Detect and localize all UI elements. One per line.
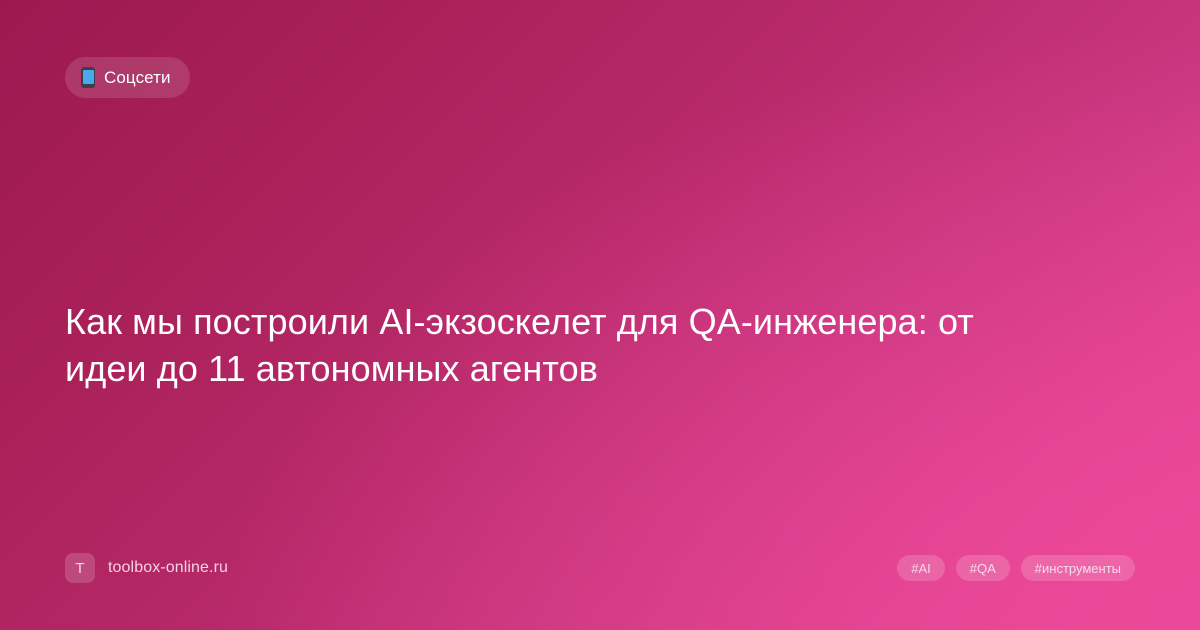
tag-instrumenty[interactable]: #инструменты bbox=[1021, 555, 1135, 581]
category-badge-label: Соцсети bbox=[104, 69, 171, 86]
brand-domain: toolbox-online.ru bbox=[108, 559, 228, 577]
card-footer: T toolbox-online.ru #AI #QA #инструменты bbox=[65, 552, 1135, 584]
category-badge[interactable]: Соцсети bbox=[65, 57, 190, 98]
tag-ai[interactable]: #AI bbox=[897, 555, 945, 581]
social-share-card: Соцсети Как мы построили AI-экзоскелет д… bbox=[0, 0, 1200, 630]
tag-list: #AI #QA #инструменты bbox=[897, 555, 1135, 581]
page-title: Как мы построили AI-экзоскелет для QA-ин… bbox=[65, 298, 995, 392]
mobile-phone-icon bbox=[81, 67, 95, 88]
brand[interactable]: T toolbox-online.ru bbox=[65, 553, 228, 583]
avatar: T bbox=[65, 553, 95, 583]
tag-qa[interactable]: #QA bbox=[956, 555, 1010, 581]
